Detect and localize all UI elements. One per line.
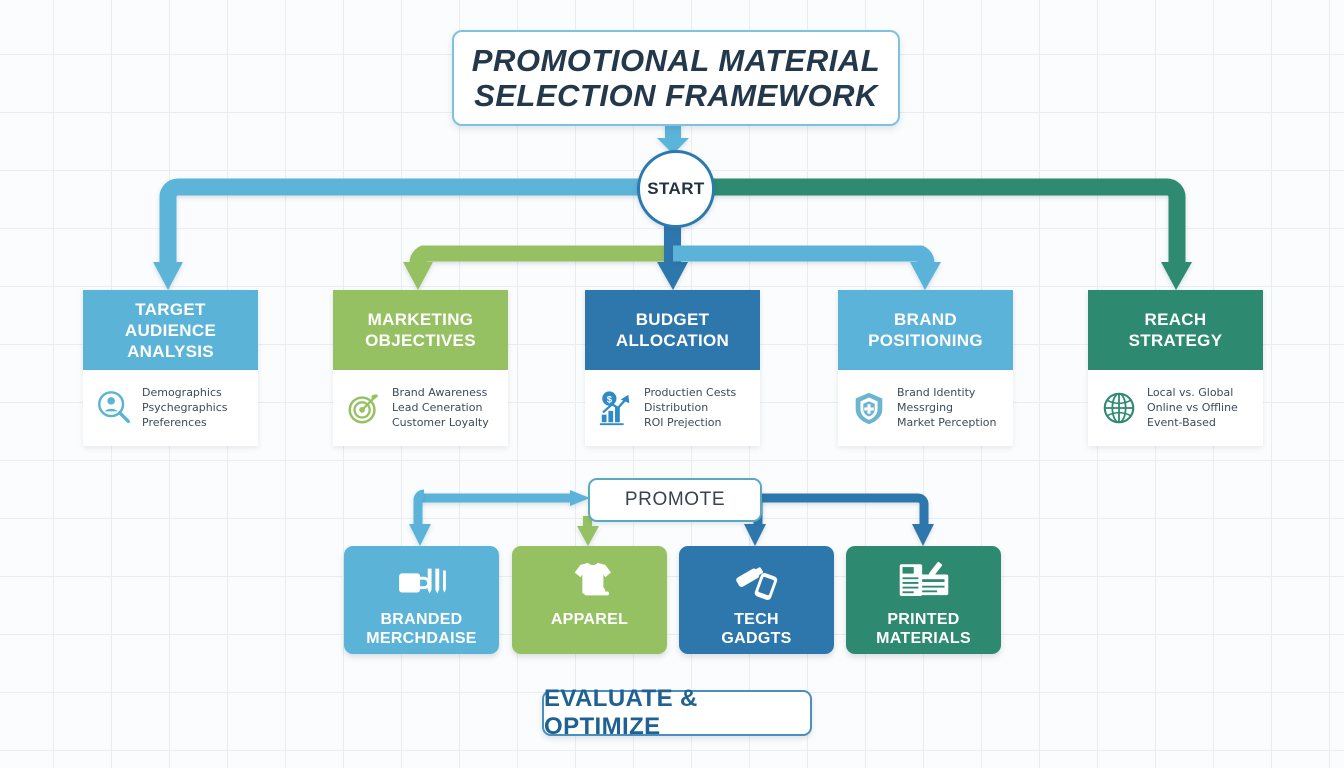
product-card-label: PRINTED MATERIALS [876,610,971,648]
globe-icon [1100,389,1138,427]
connector-start-to-reach-strategy [673,187,1192,290]
dollar-growth-chart-icon: $ [597,389,635,427]
product-label-line-1: BRANDED [366,610,477,629]
pillar-item: Online vs Offline [1147,401,1238,415]
pillar-item: Brand Awareness [392,386,489,400]
pillar-target-audience-analysis[interactable]: TARGET AUDIENCE ANALYSIS Demographics Ps… [83,290,258,446]
pillar-title-line-1: MARKETING [368,309,474,330]
product-card-label: APPAREL [551,610,628,629]
pillar-item-list: Brand Awareness Lead Ceneration Customer… [392,386,489,430]
product-card-apparel[interactable]: APPAREL [512,546,667,654]
tshirt-cap-icon [563,558,617,606]
audience-magnifier-icon [95,389,133,427]
pillar-item: Market Perception [897,416,996,430]
pillar-item: Psychegraphics [142,401,228,415]
pillar-header: BRAND POSITIONING [838,290,1013,370]
connector-start-to-marketing-objectives [403,253,673,290]
product-label-line-1: APPAREL [551,610,628,629]
pillar-item: ROI Prejection [644,416,736,430]
product-card-branded-merchdaise[interactable]: BRANDED MERCHDAISE [344,546,499,654]
pillar-brand-positioning[interactable]: BRAND POSITIONING Brand Identity Messrgi… [838,290,1013,446]
documents-pen-icon [896,558,952,606]
product-label-line-1: PRINTED [876,610,971,629]
product-label-line-2: GADGTS [721,629,791,648]
pillar-item: Lead Ceneration [392,401,489,415]
pillar-title-line-3: ANALYSIS [127,341,214,362]
product-label-line-2: MERCHDAISE [366,629,477,648]
evaluate-optimize-label: EVALUATE & OPTIMIZE [544,685,810,741]
pillar-item-list: Local vs. Global Online vs Offline Event… [1147,386,1238,430]
pillar-title-line-2: ALLOCATION [616,330,729,351]
diagram-canvas: PROMOTIONAL MATERIAL SELECTION FRAMEWORK… [0,0,1344,768]
pillar-body: Brand Awareness Lead Ceneration Customer… [333,370,508,446]
pillar-header: TARGET AUDIENCE ANALYSIS [83,290,258,370]
pillar-item: Local vs. Global [1147,386,1238,400]
pillar-item: Messrging [897,401,996,415]
pillar-body: Brand Identity Messrging Market Percepti… [838,370,1013,446]
pillar-reach-strategy[interactable]: REACH STRATEGY Local vs. Global Online v… [1088,290,1263,446]
pillar-item: Event-Based [1147,416,1238,430]
pillar-body: Demographics Psychegraphics Preferences [83,370,258,446]
svg-text:$: $ [607,394,613,405]
title-line-1: PROMOTIONAL MATERIAL [472,43,880,78]
pillar-body: $ Productien Cests Distribution ROI Prej… [585,370,760,446]
pillar-item: Distribution [644,401,736,415]
product-card-label: BRANDED MERCHDAISE [366,610,477,648]
product-label-line-2: MATERIALS [876,629,971,648]
pillar-header: BUDGET ALLOCATION [585,290,760,370]
connector-promote-to-branded-merchdaise [409,494,431,546]
pillar-item: Demographics [142,386,228,400]
pillar-title-line-2: OBJECTIVES [365,330,476,351]
connector-start-to-budget-allocation [657,218,688,290]
pillar-item-list: Productien Cests Distribution ROI Prejec… [644,386,736,430]
promote-node-label: PROMOTE [625,489,725,511]
pillar-title-line-1: TARGET [135,299,205,320]
product-card-label: TECH GADGTS [721,610,791,648]
pillar-item: Preferences [142,416,228,430]
pillar-body: Local vs. Global Online vs Offline Event… [1088,370,1263,446]
promote-node[interactable]: PROMOTE [588,478,762,522]
pillar-item: Brand Identity [897,386,996,400]
pillar-title-line-1: BRAND [894,309,957,330]
pillar-title-line-1: BUDGET [636,309,710,330]
pillar-title-line-2: AUDIENCE [125,320,216,341]
connector-start-to-target-audience [153,187,673,290]
pillar-budget-allocation[interactable]: BUDGET ALLOCATION $ Productien Cests Dis… [585,290,760,446]
usb-phone-icon [730,558,784,606]
framework-title: PROMOTIONAL MATERIAL SELECTION FRAMEWORK [452,30,900,126]
product-label-line-1: TECH [721,610,791,629]
pillar-header: MARKETING OBJECTIVES [333,290,508,370]
connector-promote-to-printed-materials [758,498,934,546]
connector-start-to-brand-positioning [673,253,941,290]
title-line-2: SELECTION FRAMEWORK [474,78,878,113]
product-card-printed-materials[interactable]: PRINTED MATERIALS [846,546,1001,654]
pillar-item-list: Brand Identity Messrging Market Percepti… [897,386,996,430]
pillar-title-line-2: STRATEGY [1129,330,1223,351]
pillar-title-line-2: POSITIONING [868,330,983,351]
pillar-item: Customer Loyalty [392,416,489,430]
mug-pens-icon [395,558,449,606]
pillar-item-list: Demographics Psychegraphics Preferences [142,386,228,430]
product-card-tech-gadgts[interactable]: TECH GADGTS [679,546,834,654]
pillar-marketing-objectives[interactable]: MARKETING OBJECTIVES Brand Awareness Lea… [333,290,508,446]
start-node[interactable]: START [637,150,715,228]
evaluate-optimize-node[interactable]: EVALUATE & OPTIMIZE [542,690,812,736]
pillar-item: Productien Cests [644,386,736,400]
target-bullseye-icon [345,389,383,427]
start-node-label: START [647,179,704,199]
connector-into-promote-left [420,490,590,506]
pillar-title-line-1: REACH [1145,309,1207,330]
shield-icon [850,389,888,427]
pillar-header: REACH STRATEGY [1088,290,1263,370]
